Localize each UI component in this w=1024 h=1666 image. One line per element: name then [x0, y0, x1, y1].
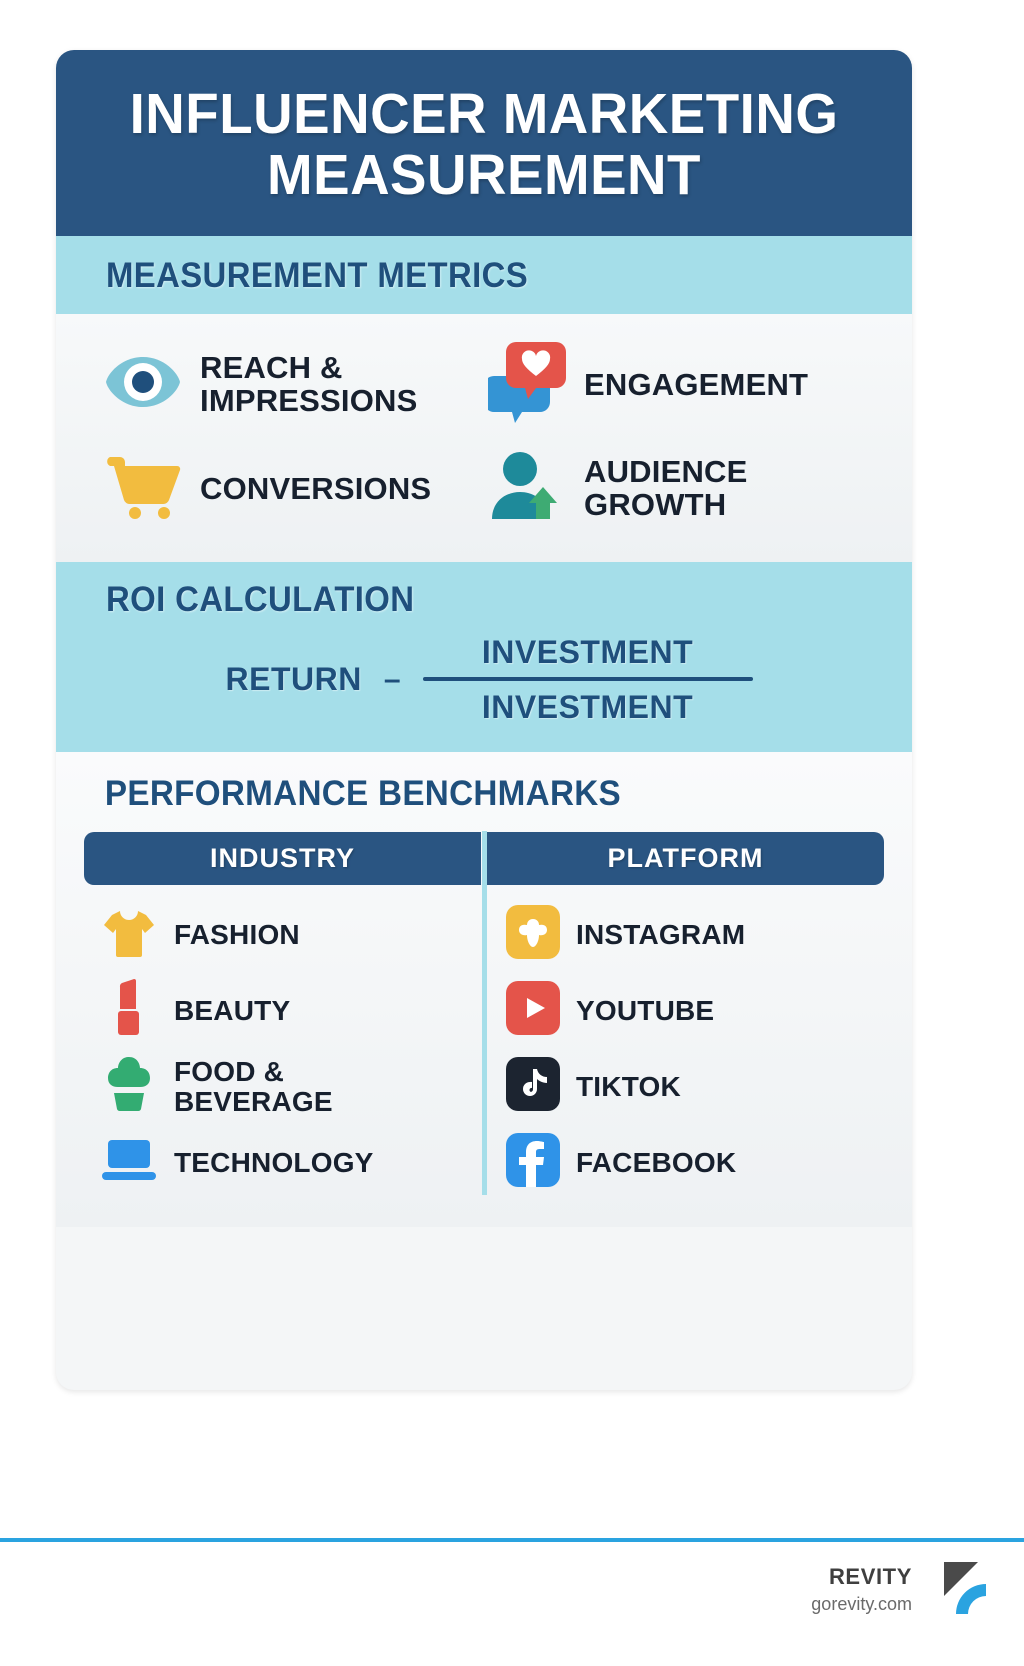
- row-label: TIKTOK: [576, 1072, 681, 1102]
- industry-column: FASHION BEAUTY: [84, 885, 478, 1201]
- brand-website: gorevity.com: [811, 1594, 912, 1615]
- row-label: INSTAGRAM: [576, 920, 745, 950]
- tiktok-icon: [506, 1057, 560, 1116]
- table-row: TECHNOLOGY: [100, 1125, 478, 1201]
- row-label: FASHION: [174, 920, 300, 950]
- metrics-grid: REACH &IMPRESSIONS ENGAGEMENT CONVER: [56, 314, 912, 562]
- platform-column: INSTAGRAM YOUTUBE: [484, 885, 884, 1201]
- row-label: FOOD &BEVERAGE: [174, 1057, 333, 1117]
- table-row: INSTAGRAM: [506, 897, 884, 973]
- footer-divider-rule: [0, 1538, 1024, 1542]
- fraction-bar: [423, 677, 753, 681]
- table-row: TIKTOK: [506, 1049, 884, 1125]
- person-growth-arrow-icon: [488, 449, 566, 528]
- facebook-icon: [506, 1133, 560, 1192]
- roi-calculation-title: ROI CALCULATION: [106, 580, 864, 620]
- column-header-industry: INDUSTRY: [84, 832, 481, 885]
- roi-return-label: RETURN: [225, 661, 361, 698]
- revity-arc-logo-icon: [934, 1556, 996, 1623]
- roi-formula: RETURN – INVESTMENT INVESTMENT: [106, 634, 912, 726]
- metric-reach-impressions: REACH &IMPRESSIONS: [104, 340, 488, 429]
- table-body: FASHION BEAUTY: [84, 885, 884, 1201]
- title-line-1: INFLUENCER MARKETING: [130, 82, 839, 146]
- row-label: YOUTUBE: [576, 996, 714, 1026]
- roi-denominator: INVESTMENT: [470, 689, 705, 726]
- metric-label: ENGAGEMENT: [584, 368, 808, 401]
- metric-label: REACH &IMPRESSIONS: [200, 351, 418, 417]
- table-row: FOOD &BEVERAGE: [100, 1049, 478, 1125]
- benchmarks-table: INDUSTRY PLATFORM FASHION: [84, 832, 884, 1201]
- roi-numerator: INVESTMENT: [470, 634, 705, 671]
- title-line-2: MEASUREMENT: [267, 143, 701, 207]
- performance-benchmarks-section: PERFORMANCE BENCHMARKS INDUSTRY PLATFORM: [56, 752, 912, 1227]
- row-label: BEAUTY: [174, 996, 290, 1026]
- shopping-cart-icon: [104, 451, 182, 526]
- roi-operator: –: [384, 663, 401, 697]
- table-row: FASHION: [100, 897, 478, 973]
- performance-benchmarks-title: PERFORMANCE BENCHMARKS: [84, 774, 844, 814]
- metric-conversions: CONVERSIONS: [104, 449, 488, 528]
- column-divider: [482, 831, 487, 1195]
- eye-icon: [104, 353, 182, 416]
- metric-label: AUDIENCEGROWTH: [584, 455, 748, 521]
- heart-speech-bubble-icon: [488, 340, 566, 429]
- footer: REVITY gorevity.com: [811, 1556, 996, 1623]
- infographic-card: INFLUENCER MARKETING MEASUREMENT MEASURE…: [56, 50, 912, 1390]
- metric-label: CONVERSIONS: [200, 472, 431, 505]
- laptop-icon: [100, 1136, 158, 1189]
- cupcake-icon: [100, 1053, 158, 1120]
- column-header-platform: PLATFORM: [487, 832, 884, 885]
- table-row: FACEBOOK: [506, 1125, 884, 1201]
- metric-audience-growth: AUDIENCEGROWTH: [488, 449, 872, 528]
- table-row: YOUTUBE: [506, 973, 884, 1049]
- roi-fraction: INVESTMENT INVESTMENT: [423, 634, 753, 726]
- page-title: INFLUENCER MARKETING MEASUREMENT: [112, 84, 857, 206]
- measurement-metrics-band: MEASUREMENT METRICS: [56, 236, 912, 314]
- brand-name: REVITY: [811, 1564, 912, 1590]
- table-row: BEAUTY: [100, 973, 478, 1049]
- metric-engagement: ENGAGEMENT: [488, 340, 872, 429]
- tshirt-icon: [100, 903, 158, 966]
- brand-text: REVITY gorevity.com: [811, 1564, 912, 1615]
- lipstick-icon: [100, 977, 158, 1044]
- youtube-icon: [506, 981, 560, 1040]
- instagram-icon: [506, 905, 560, 964]
- row-label: TECHNOLOGY: [174, 1148, 374, 1178]
- row-label: FACEBOOK: [576, 1148, 736, 1178]
- measurement-metrics-title: MEASUREMENT METRICS: [106, 256, 864, 296]
- roi-calculation-section: ROI CALCULATION RETURN – INVESTMENT INVE…: [56, 562, 912, 752]
- header-banner: INFLUENCER MARKETING MEASUREMENT: [56, 50, 912, 236]
